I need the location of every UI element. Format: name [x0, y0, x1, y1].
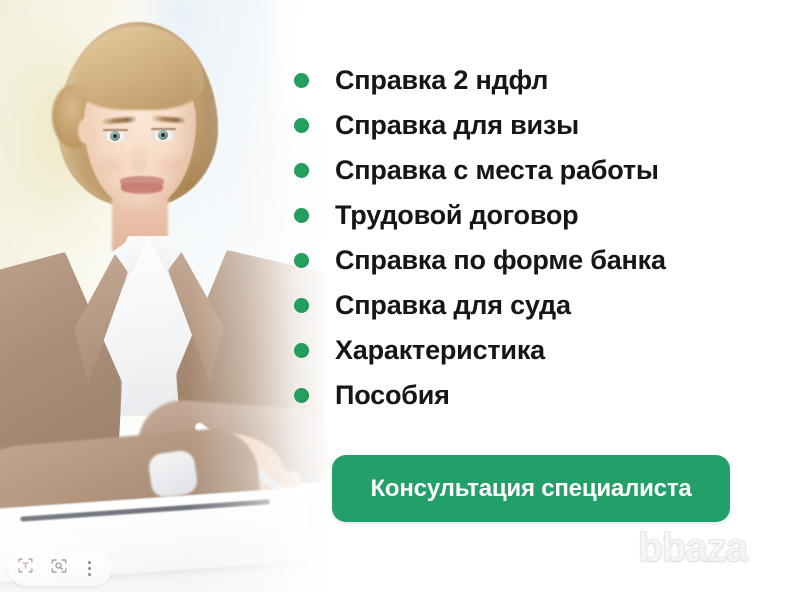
list-item: Характеристика [294, 328, 764, 373]
lens-search-button[interactable] [42, 551, 76, 585]
list-item-label: Справка для визы [335, 112, 579, 139]
pupil-left [113, 134, 117, 138]
list-item: Пособия [294, 373, 764, 418]
list-item: Справка для суда [294, 283, 764, 328]
more-options-button[interactable] [76, 551, 102, 585]
ear [78, 118, 94, 144]
bullet-dot-icon [294, 253, 309, 268]
list-item-label: Трудовой договор [335, 202, 578, 229]
consultation-button-label: Консультация специалиста [370, 475, 691, 503]
list-item-label: Справка 2 ндфл [335, 67, 548, 94]
eyelash-right [151, 128, 176, 130]
list-item-label: Характеристика [335, 337, 545, 364]
list-item-label: Пособия [335, 382, 450, 409]
text-select-icon [17, 557, 34, 579]
image-overlay-toolbar [8, 550, 112, 586]
three-dots-vertical-icon [88, 561, 91, 576]
watermark: bbaza [638, 527, 747, 568]
list-item: Справка с места работы [294, 148, 764, 193]
bullet-dot-icon [294, 298, 309, 313]
shirt-cuff [147, 449, 199, 499]
bullet-dot-icon [294, 163, 309, 178]
bullet-dot-icon [294, 73, 309, 88]
bullet-dot-icon [294, 343, 309, 358]
list-item: Справка 2 ндфл [294, 58, 764, 103]
camera-lens-icon [50, 557, 68, 580]
list-item-label: Справка с места работы [335, 157, 659, 184]
pupil-right [161, 133, 165, 137]
bullet-dot-icon [294, 388, 309, 403]
advertisement-banner: Справка 2 ндфл Справка для визы Справка … [0, 0, 788, 592]
cheek-left [98, 158, 124, 174]
chin [110, 190, 170, 212]
list-item-label: Справка по форме банка [335, 247, 666, 274]
eyelash-left [103, 129, 128, 131]
list-item: Справка по форме банка [294, 238, 764, 283]
bullet-dot-icon [294, 118, 309, 133]
text-select-button[interactable] [8, 551, 42, 585]
services-list: Справка 2 ндфл Справка для визы Справка … [294, 58, 764, 418]
bullet-dot-icon [294, 208, 309, 223]
list-item-label: Справка для суда [335, 292, 571, 319]
list-item: Трудовой договор [294, 193, 764, 238]
nose [130, 142, 148, 172]
list-item: Справка для визы [294, 103, 764, 148]
consultation-button[interactable]: Консультация специалиста [332, 455, 730, 522]
cheek-right [156, 157, 182, 173]
